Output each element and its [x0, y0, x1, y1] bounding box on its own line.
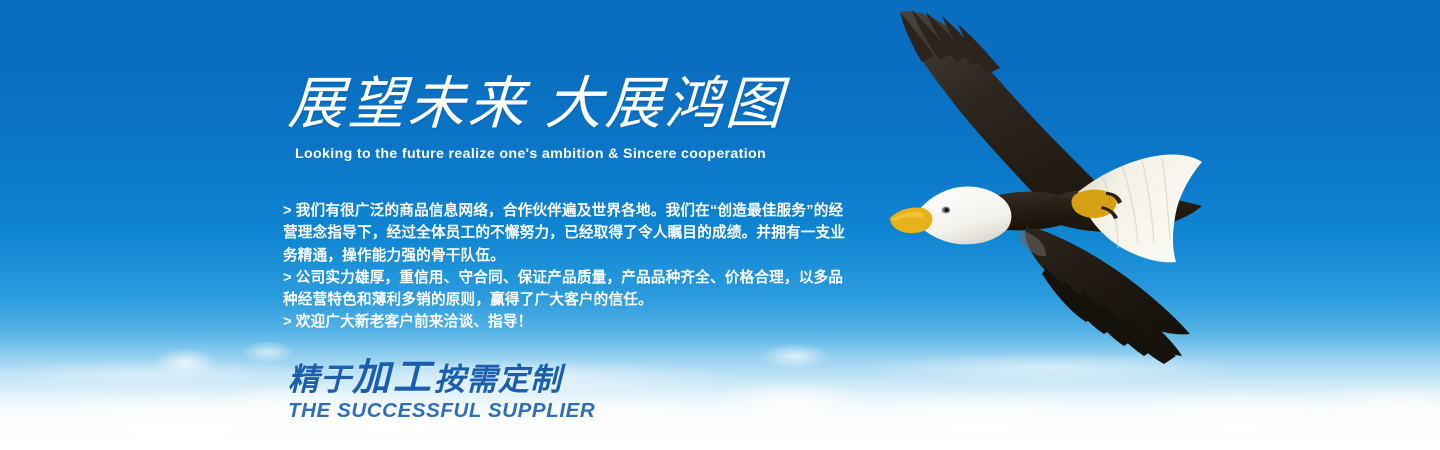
body-paragraph-text: 欢迎广大新老客户前来洽谈、指导！ — [296, 314, 533, 330]
slogan-chinese: 精于加工按需定制 — [288, 360, 708, 398]
body-paragraph-text: 公司实力雄厚，重信用、守合同、保证产品质量，产品品种齐全、价格合理，以多品种经营… — [283, 270, 843, 308]
body-paragraph: >我们有很广泛的商品信息网络，合作伙伴遍及世界各地。我们在“创造最佳服务”的经营… — [283, 200, 853, 267]
body-paragraph: >欢迎广大新老客户前来洽谈、指导！ — [283, 311, 853, 333]
body-copy: >我们有很广泛的商品信息网络，合作伙伴遍及世界各地。我们在“创造最佳服务”的经营… — [283, 200, 853, 334]
slogan-suffix: 按需定制 — [434, 362, 562, 397]
body-paragraph-text: 我们有很广泛的商品信息网络，合作伙伴遍及世界各地。我们在“创造最佳服务”的经营理… — [283, 203, 845, 264]
slogan-english: THE SUCCESSFUL SUPPLIER — [288, 399, 708, 423]
slogan-prefix: 精于 — [288, 362, 352, 397]
body-paragraph: >公司实力雄厚，重信用、守合同、保证产品质量，产品品种齐全、价格合理，以多品种经… — [283, 267, 853, 312]
page-title: 展望未来 大展鸿图 — [286, 74, 809, 136]
bullet-mark-icon: > — [283, 314, 292, 330]
bullet-mark-icon: > — [283, 203, 292, 219]
eagle-image — [850, 0, 1260, 380]
eagle-beak — [890, 207, 933, 233]
slogan-emphasis: 加工 — [352, 357, 434, 399]
eagle-pupil — [944, 208, 948, 212]
page-subtitle: Looking to the future realize one's ambi… — [295, 146, 766, 162]
promo-banner: 展望未来 大展鸿图 Looking to the future realize … — [0, 0, 1440, 450]
slogan-block: 精于加工按需定制 THE SUCCESSFUL SUPPLIER — [288, 360, 708, 423]
bullet-mark-icon: > — [283, 270, 292, 286]
